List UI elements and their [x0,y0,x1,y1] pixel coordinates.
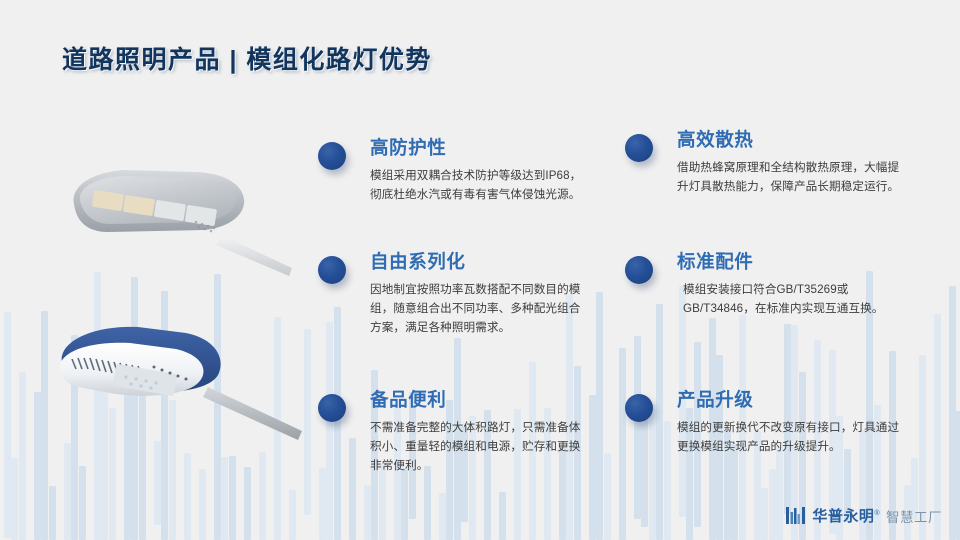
slide: 道路照明产品 | 模组化路灯优势 [0,0,960,540]
logo-brand-text: 华普永明® [812,505,880,526]
feature-grid: 高防护性 模组采用双耦合技术防护等级达到IP68，彻底杜绝水汽或有毒有害气体侵蚀… [0,0,960,540]
logo-sub-text: 智慧工厂 [886,506,942,526]
feature-heading: 标准配件 [677,252,910,272]
brand-logo: 华普永明® 智慧工厂 [785,505,942,526]
feature-item-1: 高防护性 模组采用双耦合技术防护等级达到IP68，彻底杜绝水汽或有毒有害气体侵蚀… [318,138,586,205]
bullet-dot-icon [625,134,653,162]
bullet-dot-icon [318,256,346,284]
feature-item-6: 产品升级 模组的更新换代不改变原有接口，灯具通过更换模组实现产品的升级提升。 [625,390,910,457]
feature-text: 模组的更新换代不改变原有接口，灯具通过更换模组实现产品的升级提升。 [677,419,910,457]
feature-text: 不需准备完整的大体积路灯，只需准备体积小、重量轻的模组和电源，贮存和更换非常便利… [370,419,586,475]
feature-heading: 产品升级 [677,390,910,410]
feature-item-4: 高效散热 借助热蜂窝原理和全结构散热原理，大幅提升灯具散热能力，保障产品长期稳定… [625,130,905,197]
bullet-dot-icon [625,256,653,284]
feature-item-5: 标准配件 模组安装接口符合GB/T35269或GB/T34846，在标准内实现互… [625,252,910,319]
feature-text: 因地制宜按照功率瓦数搭配不同数目的模组，随意组合出不同功率、多种配光组合方案，满… [370,281,586,337]
feature-text: 借助热蜂窝原理和全结构散热原理，大幅提升灯具散热能力，保障产品长期稳定运行。 [677,159,905,197]
feature-item-2: 自由系列化 因地制宜按照功率瓦数搭配不同数目的模组，随意组合出不同功率、多种配光… [318,252,586,338]
bullet-dot-icon [625,394,653,422]
bullet-dot-icon [318,142,346,170]
bullet-dot-icon [318,394,346,422]
logo-mark-icon [785,506,806,525]
feature-heading: 备品便利 [370,390,586,410]
feature-text: 模组安装接口符合GB/T35269或GB/T34846，在标准内实现互通互换。 [677,281,910,319]
feature-heading: 高效散热 [677,130,905,150]
feature-heading: 高防护性 [370,138,586,158]
feature-item-3: 备品便利 不需准备完整的大体积路灯，只需准备体积小、重量轻的模组和电源，贮存和更… [318,390,586,476]
feature-text: 模组采用双耦合技术防护等级达到IP68，彻底杜绝水汽或有毒有害气体侵蚀光源。 [370,167,586,205]
feature-heading: 自由系列化 [370,252,586,272]
